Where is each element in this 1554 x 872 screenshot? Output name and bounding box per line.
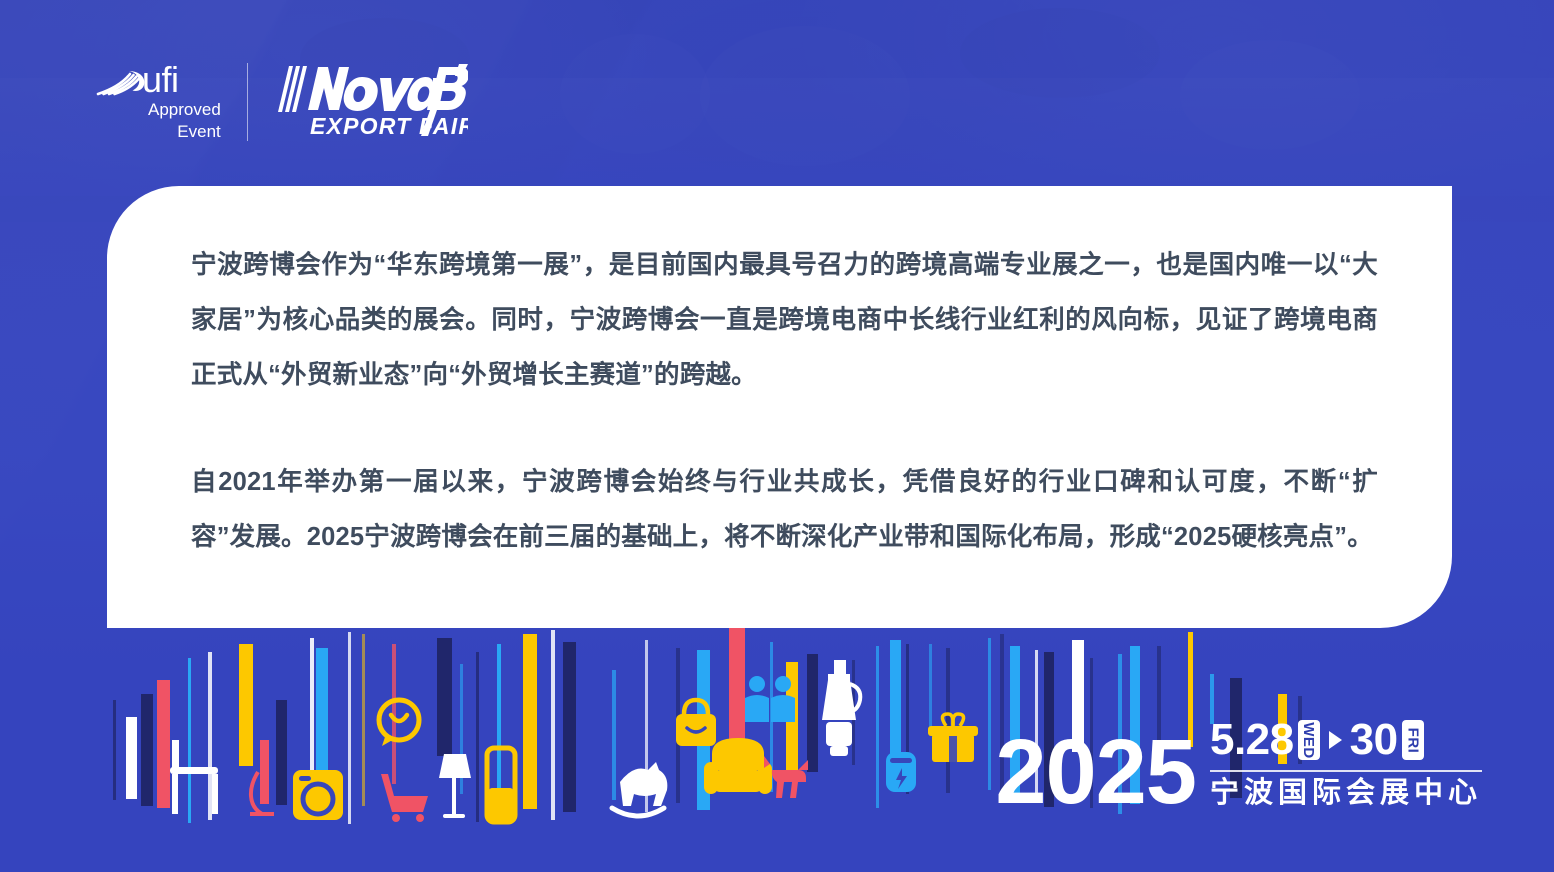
rocking-horse-icon [612,762,667,816]
end-date: 30 [1350,718,1398,762]
floor-lamp-icon [439,754,471,818]
power-bank-icon [886,752,916,792]
paragraph-2: 自2021年举办第一届以来，宁波跨博会始终与行业共成长，凭借良好的行业口碑和认可… [191,455,1378,565]
novabiz-logo-icon: EXPORT FAIR [276,64,468,140]
gift-icon [928,714,978,762]
event-date-range: 5.28 WED 30 FRI [1210,718,1425,762]
venue-divider [1210,770,1482,772]
ufi-wordmark: ufi [142,62,221,98]
ufi-approved-label: Approved [148,100,221,120]
start-weekday-label: WED [1301,722,1316,759]
event-year: 2025 [995,735,1196,810]
event-venue: 宁波国际会展中心 [1210,778,1482,810]
arrow-right-icon [1329,731,1342,749]
start-weekday-badge: WED [1298,720,1320,760]
content-card: 宁波跨博会作为“华东跨境第一展”，是目前国内最具号召力的跨境高端专业展之一，也是… [107,186,1452,628]
logo-row: ufi Approved Event [96,62,468,142]
ufi-swoosh-icon [96,68,148,98]
shopping-cart-icon [381,774,428,822]
paragraph-1: 宁波跨博会作为“华东跨境第一展”，是目前国内最具号召力的跨境高端专业展之一，也是… [191,238,1378,403]
chat-bubble-icon [379,700,419,746]
ufi-event-label: Event [148,122,221,142]
end-weekday-badge: FRI [1402,720,1424,760]
vacuum-pole [260,740,269,804]
novabiz-logo: EXPORT FAIR [248,64,468,140]
novabiz-tagline: EXPORT FAIR [310,113,468,139]
armchair-icon [704,738,772,794]
ufi-approved-event-logo: ufi Approved Event [96,62,247,142]
start-date: 5.28 [1210,718,1294,762]
washing-machine-icon [293,770,343,820]
end-weekday-label: FRI [1405,727,1420,753]
event-date-block: 2025 5.28 WED 30 FRI 宁波国际会展中心 [995,718,1482,810]
promo-banner: ufi Approved Event [0,0,1554,872]
